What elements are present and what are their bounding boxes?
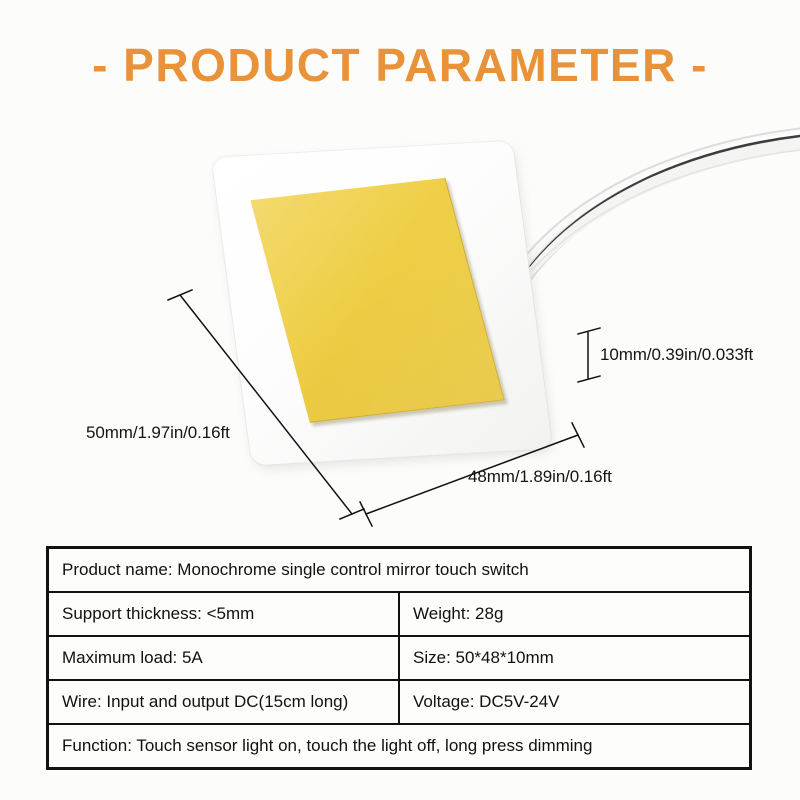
- dimension-label-depth: 48mm/1.89in/0.16ft: [468, 467, 612, 487]
- product-photo: 50mm/1.97in/0.16ft 48mm/1.89in/0.16ft 10…: [0, 110, 800, 540]
- specification-table: Product name: Monochrome single control …: [46, 546, 752, 770]
- product-parameter-page: - PRODUCT PARAMETER -: [0, 0, 800, 800]
- spec-voltage: Voltage: DC5V-24V: [399, 680, 751, 724]
- spec-product-name: Product name: Monochrome single control …: [48, 548, 751, 593]
- page-title: - PRODUCT PARAMETER -: [0, 42, 800, 88]
- spec-wire: Wire: Input and output DC(15cm long): [48, 680, 400, 724]
- spec-function: Function: Touch sensor light on, touch t…: [48, 724, 751, 769]
- spec-maximum-load: Maximum load: 5A: [48, 636, 400, 680]
- spec-size: Size: 50*48*10mm: [399, 636, 751, 680]
- dimension-label-width: 50mm/1.97in/0.16ft: [86, 423, 230, 443]
- dimension-lines: [0, 110, 800, 540]
- page-header: - PRODUCT PARAMETER -: [0, 42, 800, 88]
- table-row: Product name: Monochrome single control …: [48, 548, 751, 593]
- spec-weight: Weight: 28g: [399, 592, 751, 636]
- spec-support-thickness: Support thickness: <5mm: [48, 592, 400, 636]
- dimension-label-height: 10mm/0.39in/0.033ft: [600, 345, 753, 365]
- table-row: Maximum load: 5A Size: 50*48*10mm: [48, 636, 751, 680]
- table-row: Wire: Input and output DC(15cm long) Vol…: [48, 680, 751, 724]
- table-row: Function: Touch sensor light on, touch t…: [48, 724, 751, 769]
- table-row: Support thickness: <5mm Weight: 28g: [48, 592, 751, 636]
